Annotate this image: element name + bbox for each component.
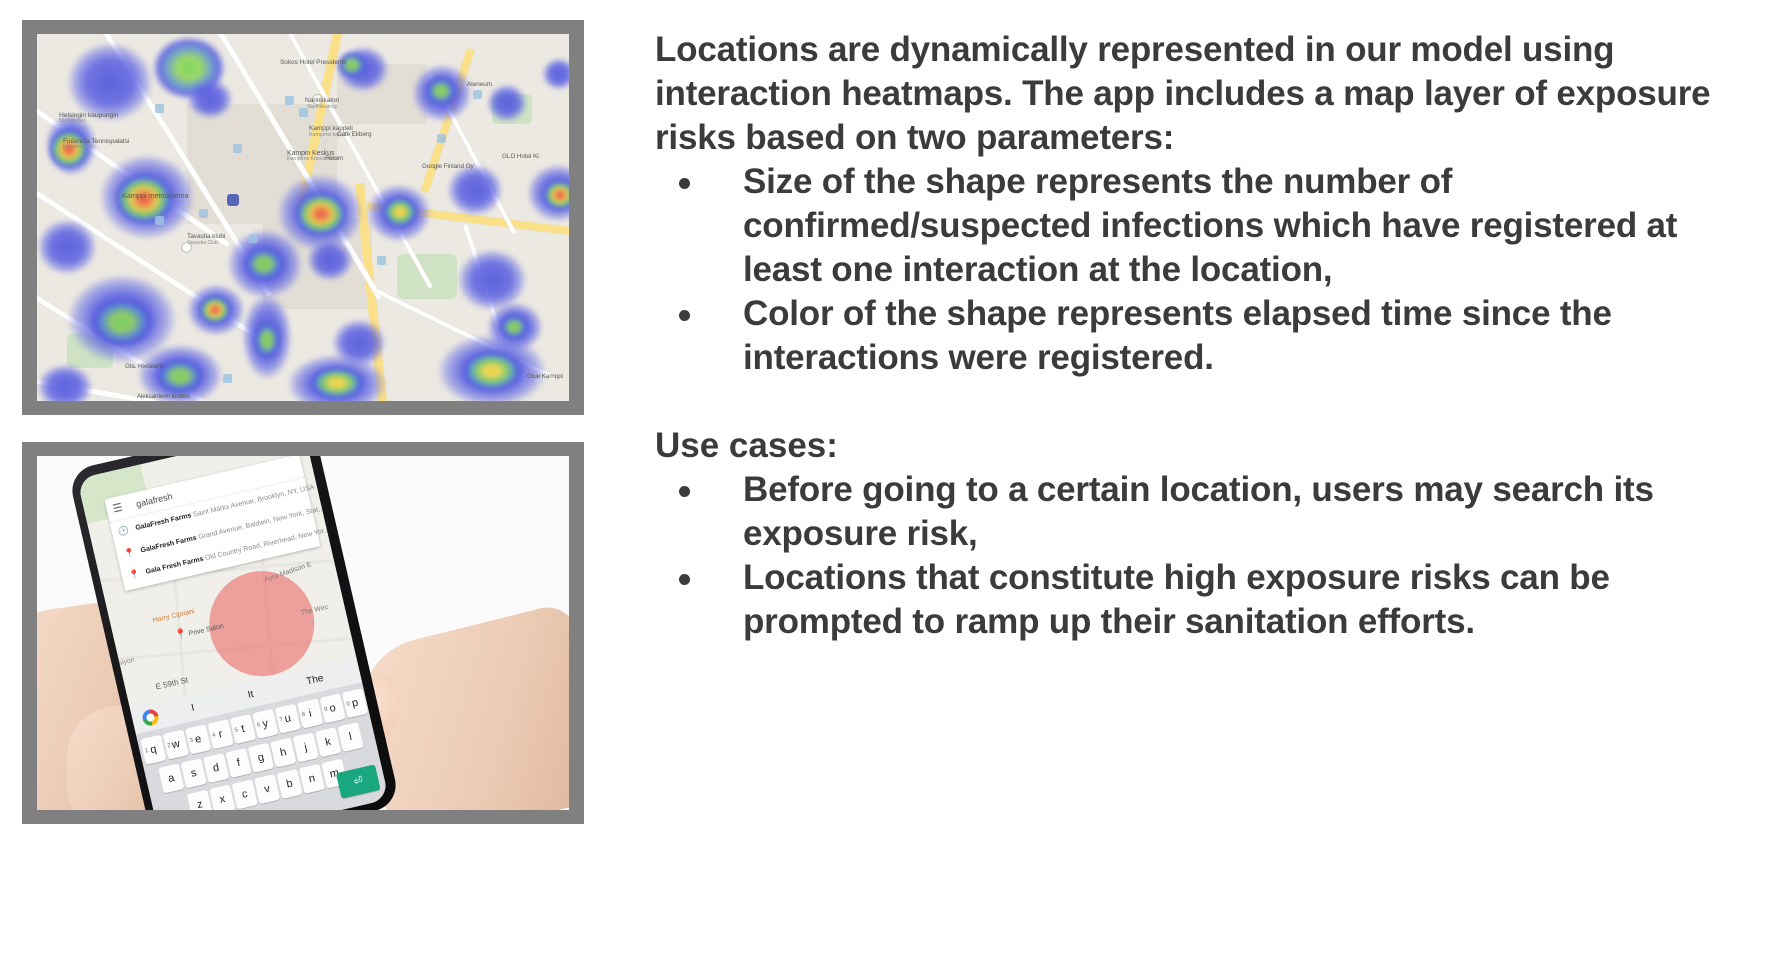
heat-blob bbox=[89, 296, 155, 348]
heat-blob bbox=[243, 246, 285, 282]
map-poi-icon bbox=[199, 209, 208, 218]
keyboard-key-label: z bbox=[196, 798, 204, 810]
keyboard-key-label: p bbox=[351, 697, 360, 710]
keyboard-key-label: e bbox=[194, 733, 203, 746]
map-label: Sokos Hotel Presidentti bbox=[280, 60, 346, 67]
use-case-bullet-list: Before going to a certain location, user… bbox=[655, 468, 1750, 644]
keyboard-key-label: y bbox=[261, 717, 269, 730]
keyboard-key-label: q bbox=[149, 743, 158, 756]
keyboard-key-label: n bbox=[308, 772, 317, 785]
map-label-title: Cafe Ekberg bbox=[337, 131, 371, 138]
map-label: Glue Kamppi bbox=[527, 374, 563, 381]
map-label: Helsingin kaupungin Stadshuset bbox=[59, 112, 118, 125]
phone-figure-frame: 🔍 ➤ ☰ galafresh 🕑 GalaFresh Farms Saint … bbox=[22, 442, 584, 824]
map-label-title: GLO Hotel Kl. bbox=[502, 153, 540, 160]
slide-root: Sokos Hotel Presidentti Narinkkatori Nar… bbox=[0, 0, 1767, 974]
parameter-bullet-text: Size of the shape represents the number … bbox=[743, 162, 1677, 289]
map-label-title: Aleksanterin teatteri bbox=[137, 393, 190, 400]
map-poi-icon bbox=[437, 134, 446, 143]
map-label-title: Kamppi metroasema bbox=[122, 191, 189, 200]
keyboard-key-label: b bbox=[285, 777, 294, 790]
bullet-dot-icon bbox=[679, 486, 690, 497]
keyboard-key-label: t bbox=[240, 723, 246, 735]
map-screenshot: Sokos Hotel Presidentti Narinkkatori Nar… bbox=[37, 34, 569, 401]
map-label: Gla. Hietalahti bbox=[125, 364, 164, 371]
map-label-title: Forum bbox=[325, 155, 343, 162]
map-poi-icon bbox=[249, 234, 258, 243]
heat-blob bbox=[67, 42, 153, 122]
map-label-sub: Narinkkatorg bbox=[305, 105, 339, 111]
keyboard-key-label: r bbox=[217, 728, 223, 741]
heat-blob bbox=[307, 239, 353, 281]
parameter-bullet-2: Color of the shape represents elapsed ti… bbox=[655, 292, 1750, 380]
map-label: Forum bbox=[325, 156, 343, 163]
heat-blob bbox=[382, 196, 418, 228]
bullet-dot-icon bbox=[679, 310, 690, 321]
heat-blob bbox=[309, 366, 365, 400]
map-poi-icon bbox=[155, 104, 164, 113]
use-case-bullet-2: Locations that constitute high exposure … bbox=[655, 556, 1750, 644]
heat-blob bbox=[543, 180, 569, 210]
parameter-bullet-text: Color of the shape represents elapsed ti… bbox=[743, 294, 1612, 377]
map-poi-icon bbox=[233, 144, 242, 153]
keyboard-key-label: x bbox=[218, 793, 226, 806]
map-label-title: Gla. Hietalahti bbox=[125, 363, 164, 370]
map-label: Finlandia Tennispalatsi Hanaholmen bbox=[63, 138, 129, 151]
bullet-dot-icon bbox=[679, 178, 690, 189]
keyboard-key-label: k bbox=[324, 736, 332, 749]
keyboard-key-label: o bbox=[328, 702, 337, 715]
map-figure-frame: Sokos Hotel Presidentti Narinkkatori Nar… bbox=[22, 20, 584, 415]
keyboard-key-label: j bbox=[303, 741, 308, 753]
heat-blob bbox=[295, 192, 347, 236]
map-poi-icon bbox=[155, 216, 164, 225]
use-case-bullet-text: Before going to a certain location, user… bbox=[743, 470, 1654, 553]
map-poi-icon bbox=[377, 256, 386, 265]
map-label: GLO Hotel Kl. bbox=[502, 154, 540, 161]
map-label: Aleksanterin teatteri bbox=[137, 394, 190, 401]
map-label-sub: Stadshuset bbox=[59, 119, 118, 125]
map-label-title: Tavastia klubi bbox=[187, 233, 225, 240]
keyboard-key-label: d bbox=[212, 762, 221, 775]
map-label-title: Narinkkatori bbox=[305, 97, 339, 104]
map-label-title: Ateneum bbox=[467, 81, 492, 88]
map-label-title: Google Finland Oy bbox=[422, 163, 474, 170]
heat-blob bbox=[253, 320, 281, 360]
map-label-title: Glue Kamppi bbox=[527, 373, 563, 380]
heat-blob bbox=[187, 79, 233, 119]
keyboard-key-label: s bbox=[190, 767, 198, 780]
heat-blob bbox=[37, 219, 97, 275]
keyboard-key-label: u bbox=[284, 712, 293, 725]
phone-photo: 🔍 ➤ ☰ galafresh 🕑 GalaFresh Farms Saint … bbox=[37, 456, 569, 810]
use-case-bullet-text: Locations that constitute high exposure … bbox=[743, 558, 1610, 641]
map-label-title: Sokos Hotel Presidentti bbox=[280, 59, 346, 66]
keyboard-key-label: c bbox=[241, 788, 249, 801]
bullet-dot-icon bbox=[679, 574, 690, 585]
intro-paragraph: Locations are dynamically represented in… bbox=[655, 28, 1750, 160]
map-poi-icon bbox=[473, 90, 482, 99]
heat-blob bbox=[542, 58, 569, 90]
map-label: Tavastia klubi Tavastia Club bbox=[187, 234, 225, 247]
map-label: Cafe Ekberg bbox=[337, 132, 371, 139]
map-label-sub: Hanaholmen bbox=[63, 145, 129, 151]
heat-blob bbox=[461, 350, 523, 392]
keyboard-key-label: w bbox=[171, 738, 181, 751]
keyboard-key-label: a bbox=[167, 772, 176, 785]
keyboard-key-label: g bbox=[257, 751, 266, 764]
map-label: Google Finland Oy bbox=[422, 164, 474, 171]
keyboard-key-label: f bbox=[236, 757, 242, 769]
map-poi-icon bbox=[223, 374, 232, 383]
heat-blob bbox=[447, 164, 503, 216]
parameter-bullet-list: Size of the shape represents the number … bbox=[655, 160, 1750, 380]
map-metro-icon bbox=[227, 194, 239, 206]
use-case-bullet-1: Before going to a certain location, user… bbox=[655, 468, 1750, 556]
text-column: Locations are dynamically represented in… bbox=[655, 28, 1750, 644]
parameter-bullet-1: Size of the shape represents the number … bbox=[655, 160, 1750, 292]
keyboard-key-label: h bbox=[279, 746, 288, 759]
map-label-sub: Tavastia Club bbox=[187, 241, 225, 247]
section-spacer bbox=[655, 380, 1750, 424]
figures-column: Sokos Hotel Presidentti Narinkkatori Nar… bbox=[0, 0, 640, 974]
keyboard-key-label: i bbox=[308, 707, 313, 719]
map-label: Kamppi metroasema bbox=[122, 192, 189, 200]
use-cases-title: Use cases: bbox=[655, 424, 1750, 468]
heat-blob bbox=[199, 296, 231, 324]
keyboard-key-label: l bbox=[348, 731, 353, 743]
heat-blob bbox=[425, 76, 457, 106]
heat-blob bbox=[487, 84, 527, 122]
map-label: Narinkkatori Narinkkatorg bbox=[305, 98, 339, 111]
map-poi-icon bbox=[285, 96, 294, 105]
keyboard-key-label: v bbox=[263, 783, 271, 796]
map-label: Ateneum bbox=[467, 82, 492, 89]
